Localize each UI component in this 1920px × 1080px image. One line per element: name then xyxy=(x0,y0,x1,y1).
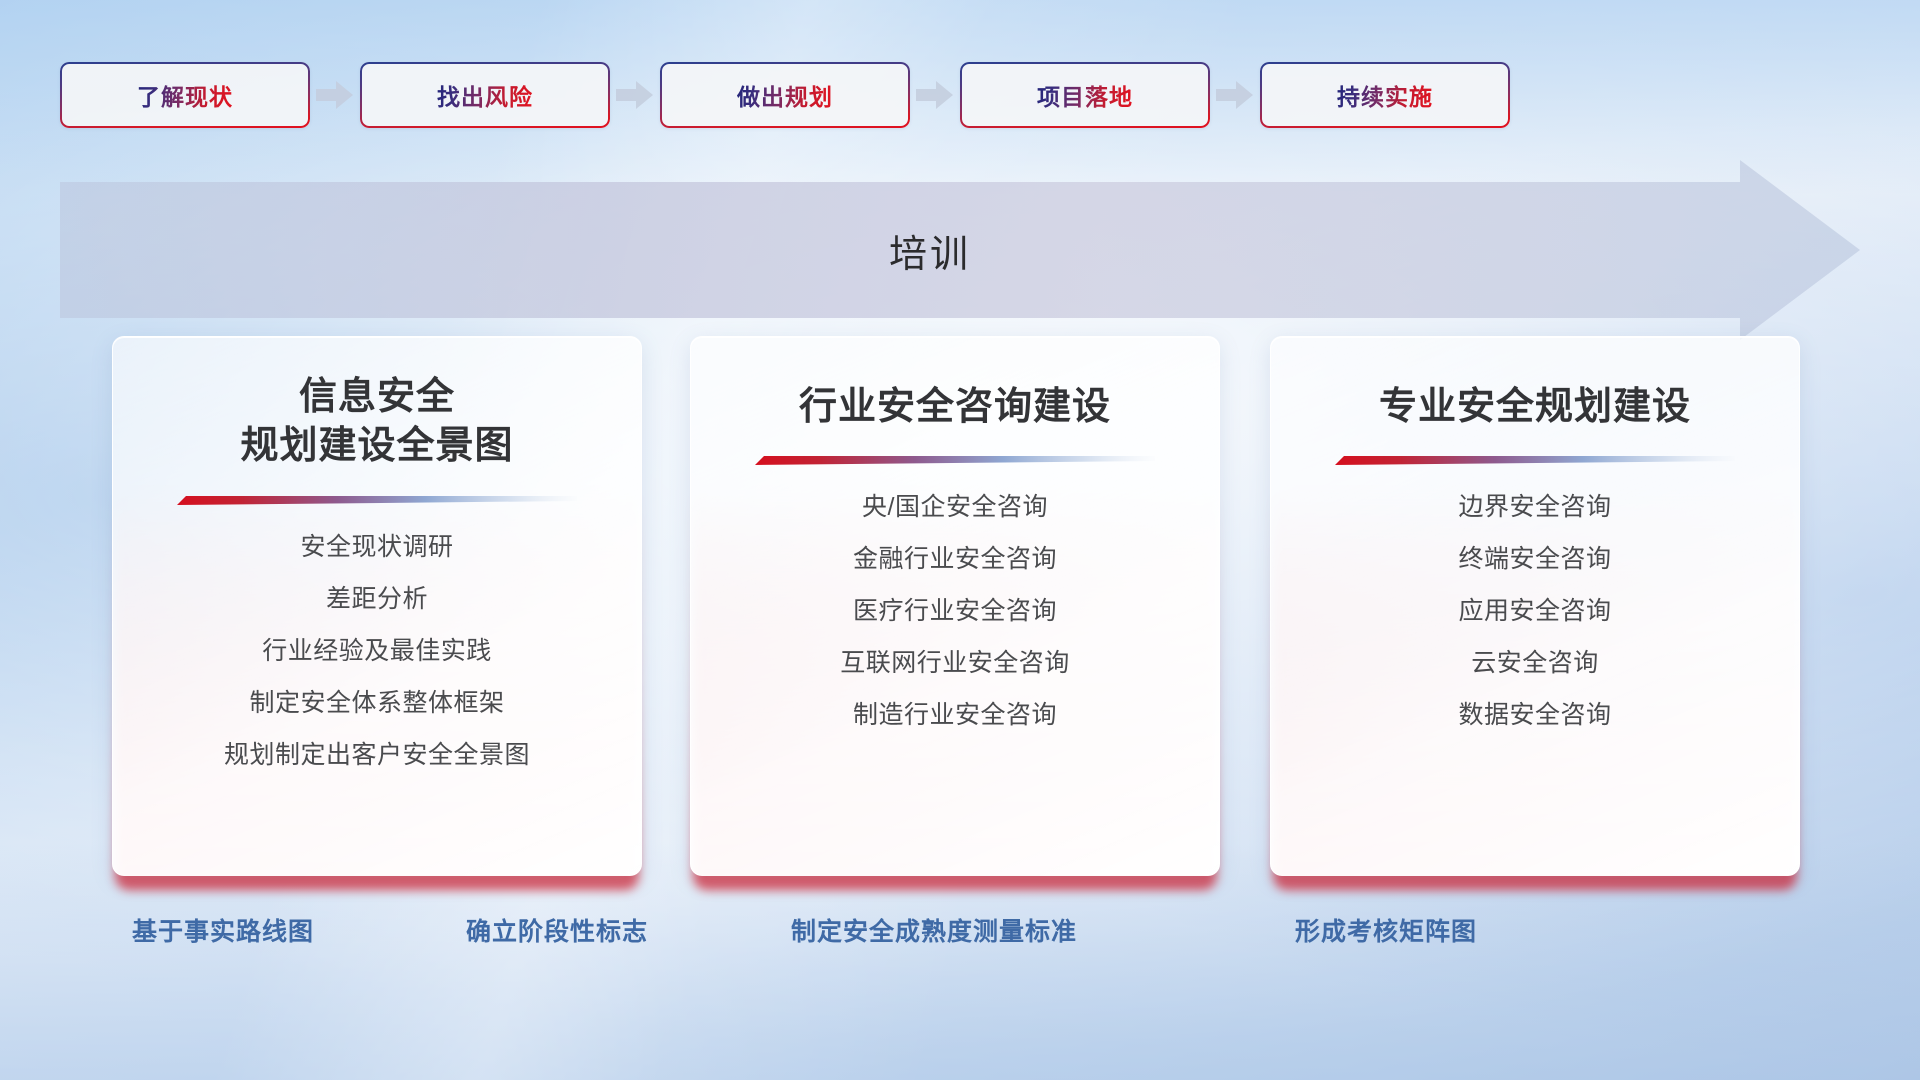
card-list-item: 差距分析 xyxy=(113,587,641,612)
process-step-label: 找出风险 xyxy=(437,78,533,112)
caption-1: 确立阶段性标志 xyxy=(466,912,648,948)
process-step-row: 了解现状 找出风险 做出规划 项目落地 xyxy=(60,62,1860,128)
card-list-item: 互联网行业安全咨询 xyxy=(691,651,1219,676)
card-body: 专业安全规划建设 xyxy=(1270,336,1800,876)
capability-card-0[interactable]: 信息安全 规划建设全景图 xyxy=(112,336,642,876)
caption-2: 制定安全成熟度测量标准 xyxy=(791,912,1077,948)
process-step-label: 了解现状 xyxy=(137,78,233,112)
card-title-line-1: 专业安全规划建设 xyxy=(1271,383,1799,432)
capability-card-1[interactable]: 行业安全咨询建设 xyxy=(690,336,1220,876)
card-item-list: 边界安全咨询 终端安全咨询 应用安全咨询 云安全咨询 数据安全咨询 xyxy=(1271,495,1799,755)
arrow-right-icon xyxy=(616,78,654,112)
training-banner: 培训 xyxy=(60,160,1860,340)
card-title-line-2: 规划建设全景图 xyxy=(113,422,641,471)
card-list-item: 边界安全咨询 xyxy=(1271,495,1799,520)
card-body: 信息安全 规划建设全景图 xyxy=(112,336,642,876)
process-step-3[interactable]: 项目落地 xyxy=(960,62,1210,128)
card-body: 行业安全咨询建设 xyxy=(690,336,1220,876)
card-list-item: 央/国企安全咨询 xyxy=(691,495,1219,520)
process-step-1[interactable]: 找出风险 xyxy=(360,62,610,128)
card-title-line-1: 行业安全咨询建设 xyxy=(691,383,1219,432)
card-item-list: 安全现状调研 差距分析 行业经验及最佳实践 制定安全体系整体框架 规划制定出客户… xyxy=(113,535,641,795)
card-list-item: 应用安全咨询 xyxy=(1271,599,1799,624)
process-step-2[interactable]: 做出规划 xyxy=(660,62,910,128)
caption-row: 基于事实路线图 确立阶段性标志 制定安全成熟度测量标准 形成考核矩阵图 xyxy=(0,912,1920,958)
card-row: 信息安全 规划建设全景图 xyxy=(112,336,1812,876)
card-list-item: 终端安全咨询 xyxy=(1271,547,1799,572)
card-title: 信息安全 规划建设全景图 xyxy=(113,373,641,472)
card-item-list: 央/国企安全咨询 金融行业安全咨询 医疗行业安全咨询 互联网行业安全咨询 制造行… xyxy=(691,495,1219,755)
capability-card-2[interactable]: 专业安全规划建设 xyxy=(1270,336,1800,876)
training-banner-label: 培训 xyxy=(60,160,1800,340)
caption-0: 基于事实路线图 xyxy=(132,912,314,948)
card-title: 行业安全咨询建设 xyxy=(691,383,1219,432)
card-list-item: 医疗行业安全咨询 xyxy=(691,599,1219,624)
caption-3: 形成考核矩阵图 xyxy=(1295,912,1477,948)
card-title: 专业安全规划建设 xyxy=(1271,383,1799,432)
card-list-item: 行业经验及最佳实践 xyxy=(113,639,641,664)
card-title-line-1: 信息安全 xyxy=(113,373,641,422)
arrow-right-icon xyxy=(1216,78,1254,112)
card-list-item: 金融行业安全咨询 xyxy=(691,547,1219,572)
card-list-item: 制造行业安全咨询 xyxy=(691,703,1219,728)
card-list-item: 规划制定出客户安全全景图 xyxy=(113,743,641,768)
process-step-4[interactable]: 持续实施 xyxy=(1260,62,1510,128)
card-list-item: 安全现状调研 xyxy=(113,535,641,560)
card-divider-rule xyxy=(177,496,577,505)
card-divider-rule xyxy=(1335,456,1735,465)
process-step-label: 持续实施 xyxy=(1337,78,1433,112)
slide-canvas: 了解现状 找出风险 做出规划 项目落地 xyxy=(0,0,1920,1080)
card-list-item: 数据安全咨询 xyxy=(1271,703,1799,728)
card-divider-rule xyxy=(755,456,1155,465)
arrow-right-icon xyxy=(316,78,354,112)
arrow-right-icon xyxy=(916,78,954,112)
card-list-item: 云安全咨询 xyxy=(1271,651,1799,676)
process-step-label: 项目落地 xyxy=(1037,78,1133,112)
card-list-item: 制定安全体系整体框架 xyxy=(113,691,641,716)
process-step-label: 做出规划 xyxy=(737,78,833,112)
process-step-0[interactable]: 了解现状 xyxy=(60,62,310,128)
